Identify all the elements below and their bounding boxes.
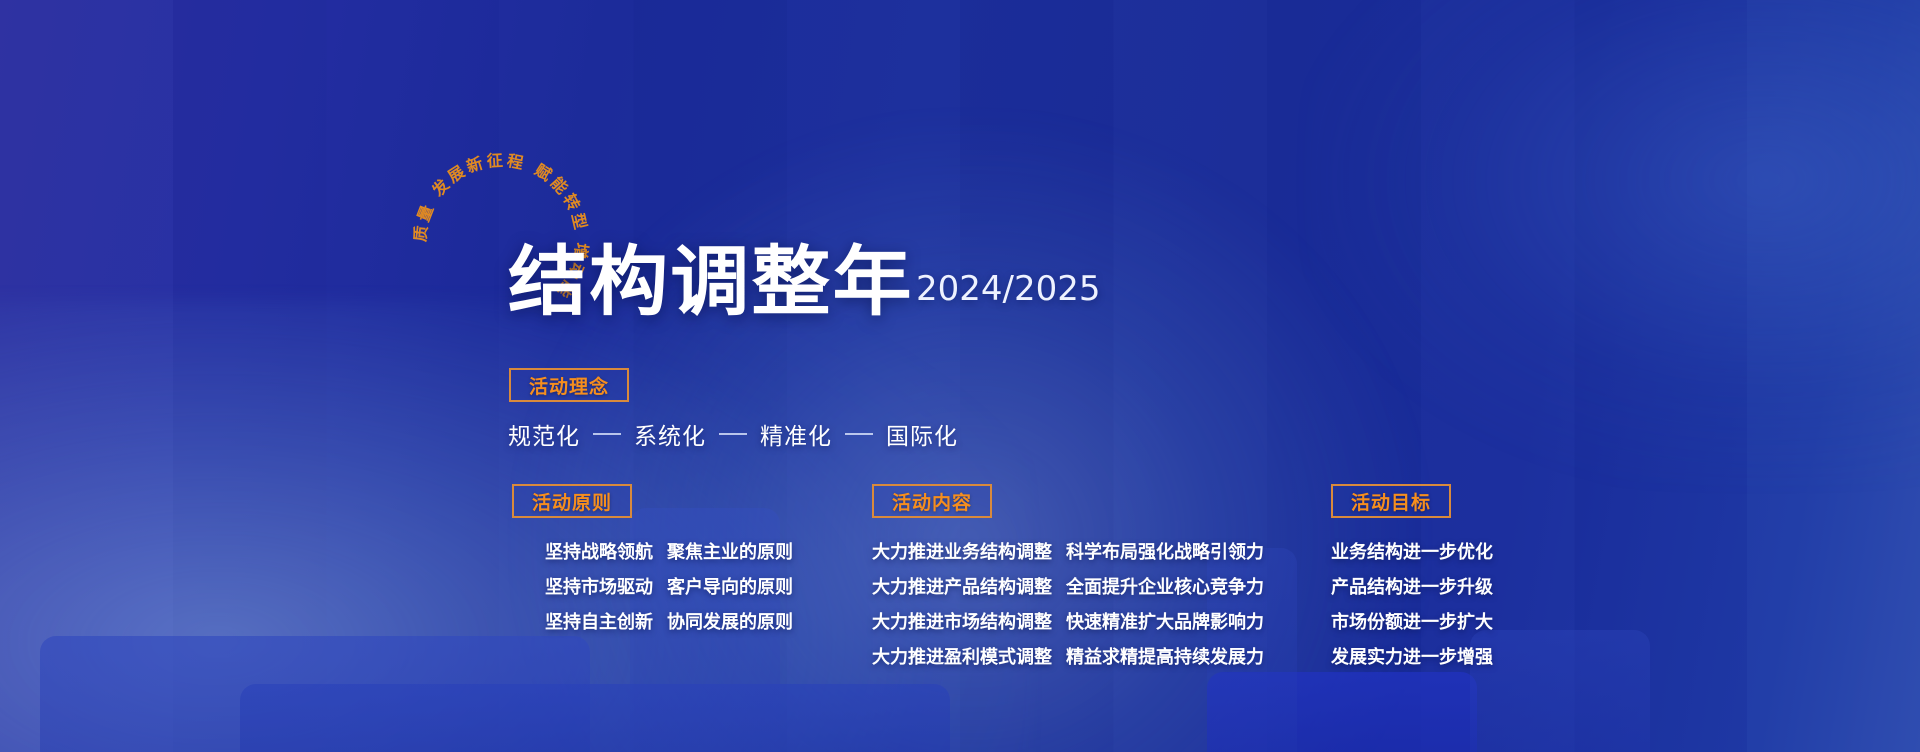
list-item: 业务结构进一步优化 (1331, 538, 1493, 564)
tag-goals-label: 活动目标 (1351, 488, 1431, 515)
list-item: 大力推进产品结构调整 全面提升企业核心竞争力 (872, 573, 1264, 599)
list-item: 坚持市场驱动 客户导向的原则 (545, 573, 793, 599)
goals-2-left: 市场份额进一步扩大 (1331, 608, 1493, 634)
contents-0-right: 科学布局强化战略引领力 (1066, 538, 1264, 564)
concept-divider-0 (593, 433, 621, 435)
tag-concept: 活动理念 (509, 368, 629, 402)
poster-canvas: 奋进高质量 发展新征程 赋能转型 增动能 结构调整年 2024/2025 活动理… (0, 0, 1920, 752)
principles-2-left: 坚持自主创新 (545, 608, 653, 634)
concept-item-2: 精准化 (760, 417, 832, 451)
concept-item-3: 国际化 (886, 417, 958, 451)
principles-0-left: 坚持战略领航 (545, 538, 653, 564)
list-item: 大力推进市场结构调整 快速精准扩大品牌影响力 (872, 608, 1264, 634)
list-item: 坚持战略领航 聚焦主业的原则 (545, 538, 793, 564)
tag-contents: 活动内容 (872, 484, 992, 518)
concept-item-1: 系统化 (634, 417, 706, 451)
list-item: 坚持自主创新 协同发展的原则 (545, 608, 793, 634)
list-item: 发展实力进一步增强 (1331, 643, 1493, 669)
tag-principles-label: 活动原则 (532, 488, 612, 515)
concept-divider-1 (719, 433, 747, 435)
concept-line: 规范化 系统化 精准化 国际化 (508, 417, 958, 451)
tag-principles: 活动原则 (512, 484, 632, 518)
page-title: 结构调整年 (508, 246, 914, 318)
contents-3-right: 精益求精提高持续发展力 (1066, 643, 1264, 669)
contents-3-left: 大力推进盈利模式调整 (872, 643, 1052, 669)
list-item: 大力推进业务结构调整 科学布局强化战略引领力 (872, 538, 1264, 564)
tag-contents-label: 活动内容 (892, 488, 972, 515)
goals-0-left: 业务结构进一步优化 (1331, 538, 1493, 564)
tag-goals: 活动目标 (1331, 484, 1451, 518)
principles-list: 坚持战略领航 聚焦主业的原则 坚持市场驱动 客户导向的原则 坚持自主创新 协同发… (545, 538, 793, 643)
poster-content: 奋进高质量 发展新征程 赋能转型 增动能 结构调整年 2024/2025 活动理… (0, 0, 1920, 752)
contents-1-right: 全面提升企业核心竞争力 (1066, 573, 1264, 599)
principles-0-right: 聚焦主业的原则 (667, 538, 793, 564)
goals-list: 业务结构进一步优化 产品结构进一步升级 市场份额进一步扩大 发展实力进一步增强 (1331, 538, 1493, 678)
contents-0-left: 大力推进业务结构调整 (872, 538, 1052, 564)
concept-divider-2 (845, 433, 873, 435)
principles-2-right: 协同发展的原则 (667, 608, 793, 634)
contents-2-left: 大力推进市场结构调整 (872, 608, 1052, 634)
goals-1-left: 产品结构进一步升级 (1331, 573, 1493, 599)
contents-list: 大力推进业务结构调整 科学布局强化战略引领力 大力推进产品结构调整 全面提升企业… (872, 538, 1264, 678)
concept-item-0: 规范化 (508, 417, 580, 451)
principles-1-left: 坚持市场驱动 (545, 573, 653, 599)
list-item: 产品结构进一步升级 (1331, 573, 1493, 599)
title-year: 2024/2025 (916, 269, 1101, 318)
list-item: 大力推进盈利模式调整 精益求精提高持续发展力 (872, 643, 1264, 669)
contents-1-left: 大力推进产品结构调整 (872, 573, 1052, 599)
tag-concept-label: 活动理念 (529, 372, 609, 399)
title-row: 结构调整年 2024/2025 (508, 246, 1101, 318)
principles-1-right: 客户导向的原则 (667, 573, 793, 599)
goals-3-left: 发展实力进一步增强 (1331, 643, 1493, 669)
list-item: 市场份额进一步扩大 (1331, 608, 1493, 634)
contents-2-right: 快速精准扩大品牌影响力 (1066, 608, 1264, 634)
